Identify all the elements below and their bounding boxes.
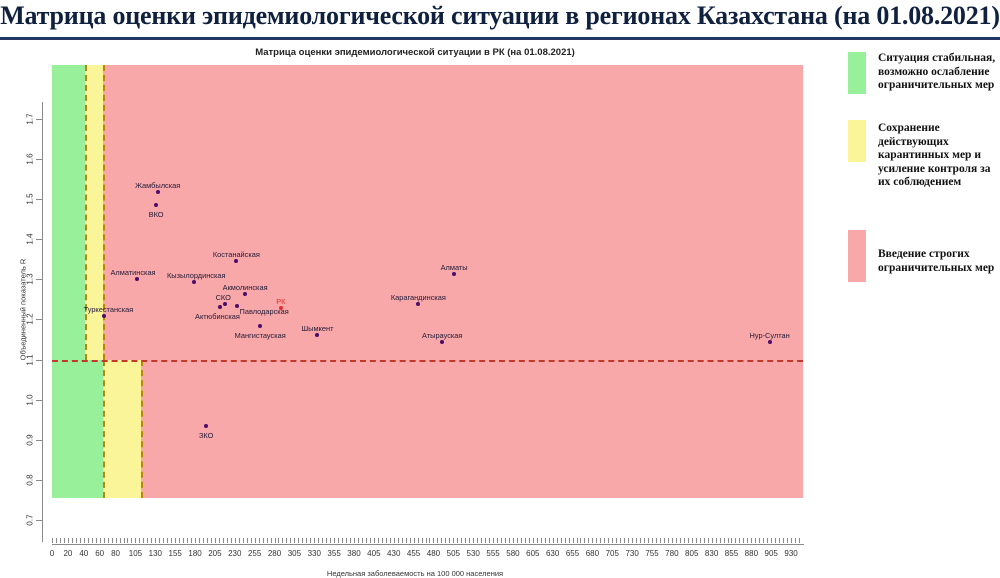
x-tick	[505, 538, 506, 543]
boundary-yellow-red-lower	[141, 360, 143, 498]
x-tick	[787, 538, 788, 543]
y-tick	[36, 199, 42, 200]
y-tick	[36, 400, 42, 401]
x-tick	[445, 538, 446, 543]
x-tick	[521, 538, 522, 543]
x-tick	[588, 538, 589, 543]
data-point	[218, 305, 222, 309]
x-tick	[402, 538, 403, 543]
x-tick	[362, 538, 363, 543]
data-point	[768, 340, 772, 344]
data-point-label: Актюбинская	[195, 312, 240, 321]
x-tick	[124, 538, 125, 543]
data-point-label: РК	[276, 297, 285, 306]
x-tick	[584, 538, 585, 543]
x-tick	[116, 538, 117, 543]
legend-color-swatch	[848, 230, 866, 282]
x-tick	[56, 538, 57, 543]
x-tick	[624, 538, 625, 543]
data-point	[192, 280, 196, 284]
data-point	[243, 292, 247, 296]
x-tick	[155, 538, 156, 543]
x-tick	[573, 538, 574, 543]
x-tick	[688, 538, 689, 543]
x-tick	[493, 538, 494, 543]
data-point	[154, 203, 158, 207]
x-tick	[398, 538, 399, 543]
x-tick	[557, 538, 558, 543]
x-tick	[656, 538, 657, 543]
y-tick-label: 1.5	[26, 189, 35, 209]
x-tick	[759, 538, 760, 543]
y-tick	[36, 480, 42, 481]
x-tick-label: 655	[566, 549, 579, 558]
x-tick	[489, 538, 490, 543]
x-tick	[461, 538, 462, 543]
x-tick	[648, 538, 649, 543]
x-tick-label: 705	[606, 549, 619, 558]
x-tick	[429, 538, 430, 543]
x-tick	[88, 538, 89, 543]
chart-panel: Матрица оценки эпидемиологической ситуац…	[0, 40, 830, 549]
x-tick	[716, 538, 717, 543]
x-tick	[477, 538, 478, 543]
x-tick	[473, 538, 474, 543]
data-point-label: Туркестанская	[84, 305, 134, 314]
chart-title: Матрица оценки эпидемиологической ситуац…	[0, 47, 830, 58]
x-tick-label: 305	[288, 549, 301, 558]
x-tick	[414, 538, 415, 543]
x-tick	[131, 538, 132, 543]
y-tick-label: 1.7	[26, 109, 35, 129]
x-tick	[612, 538, 613, 543]
x-tick	[720, 538, 721, 543]
x-tick	[457, 538, 458, 543]
data-point	[258, 324, 262, 328]
x-tick	[660, 538, 661, 543]
x-tick	[52, 538, 53, 543]
data-point	[102, 314, 106, 318]
x-tick	[68, 538, 69, 543]
x-tick	[481, 538, 482, 543]
x-tick	[127, 538, 128, 543]
x-tick	[191, 538, 192, 543]
y-tick	[36, 319, 42, 320]
x-tick	[259, 538, 260, 543]
x-tick-label: 880	[745, 549, 758, 558]
x-tick-label: 130	[149, 549, 162, 558]
x-tick	[684, 538, 685, 543]
x-tick-label: 0	[50, 549, 54, 558]
x-tick	[743, 538, 744, 543]
y-tick-label: 1.4	[26, 229, 35, 249]
x-tick	[541, 538, 542, 543]
x-tick	[135, 538, 136, 543]
y-tick-label: 1.1	[26, 350, 35, 370]
legend-label: Ситуация стабильная, возможно ослабление…	[878, 52, 1000, 93]
zone-yellow-upper	[85, 65, 102, 360]
data-point-label: ЗКО	[199, 431, 213, 440]
x-tick	[620, 538, 621, 543]
x-tick-label: 530	[467, 549, 480, 558]
x-tick	[600, 538, 601, 543]
y-tick	[36, 360, 42, 361]
data-point	[416, 302, 420, 306]
x-tick	[171, 538, 172, 543]
legend-label: Введение строгих ограничительных мер	[878, 248, 1000, 275]
data-point-label: Нур-Султан	[750, 331, 790, 340]
data-point	[135, 277, 139, 281]
data-point-label: Алматы	[441, 263, 468, 272]
x-tick	[314, 538, 315, 543]
x-tick	[795, 538, 796, 543]
x-tick	[366, 538, 367, 543]
data-point-label: Шымкент	[301, 324, 333, 333]
x-tick	[704, 538, 705, 543]
x-tick	[179, 538, 180, 543]
x-tick	[251, 538, 252, 543]
data-point-label: ВКО	[149, 210, 164, 219]
x-tick	[465, 538, 466, 543]
x-tick	[167, 538, 168, 543]
x-tick	[596, 538, 597, 543]
x-tick	[96, 538, 97, 543]
x-tick	[580, 538, 581, 543]
x-tick	[672, 538, 673, 543]
x-tick	[147, 538, 148, 543]
x-tick	[271, 538, 272, 543]
x-tick	[358, 538, 359, 543]
x-tick-label: 730	[625, 549, 638, 558]
x-tick	[64, 538, 65, 543]
x-tick-label: 180	[188, 549, 201, 558]
x-tick	[668, 538, 669, 543]
x-tick	[644, 538, 645, 543]
y-axis-line	[42, 102, 43, 542]
x-tick	[791, 538, 792, 543]
x-tick	[751, 538, 752, 543]
x-tick	[775, 538, 776, 543]
x-tick	[529, 538, 530, 543]
y-tick	[36, 159, 42, 160]
x-tick	[290, 538, 291, 543]
x-tick	[80, 538, 81, 543]
y-tick-label: 0.8	[26, 470, 35, 490]
x-tick	[779, 538, 780, 543]
data-point	[452, 272, 456, 276]
x-tick-label: 555	[486, 549, 499, 558]
x-tick	[310, 538, 311, 543]
x-tick	[207, 538, 208, 543]
x-tick	[243, 538, 244, 543]
x-tick	[724, 538, 725, 543]
x-tick	[211, 538, 212, 543]
y-tick	[36, 440, 42, 441]
x-tick-label: 155	[168, 549, 181, 558]
x-tick	[426, 538, 427, 543]
x-tick	[318, 538, 319, 543]
legend-label: Сохранение действующих карантинных мер и…	[878, 122, 1000, 190]
x-tick	[215, 538, 216, 543]
data-point	[315, 333, 319, 337]
x-tick	[60, 538, 61, 543]
x-tick	[652, 538, 653, 543]
x-tick	[553, 538, 554, 543]
x-tick	[708, 538, 709, 543]
plot-area: ЖамбылскаяВКОКостанайскаяАлматинскаяКызы…	[52, 65, 803, 498]
x-tick	[338, 538, 339, 543]
x-tick	[235, 538, 236, 543]
x-tick	[247, 538, 248, 543]
x-tick	[286, 538, 287, 543]
x-tick	[92, 538, 93, 543]
y-tick-label: 1.6	[26, 149, 35, 169]
x-tick-label: 330	[308, 549, 321, 558]
x-tick-label: 280	[268, 549, 281, 558]
x-tick	[76, 538, 77, 543]
x-tick	[378, 538, 379, 543]
x-tick-label: 380	[347, 549, 360, 558]
x-tick	[354, 538, 355, 543]
x-tick	[680, 538, 681, 543]
zone-red-lower	[141, 360, 803, 498]
x-tick	[263, 538, 264, 543]
x-tick	[513, 538, 514, 543]
x-tick	[728, 538, 729, 543]
x-tick	[112, 538, 113, 543]
zone-green-upper	[52, 65, 85, 360]
x-tick-label: 230	[228, 549, 241, 558]
x-tick	[628, 538, 629, 543]
data-point-label: Алматинская	[110, 268, 155, 277]
y-tick	[36, 119, 42, 120]
x-tick	[771, 538, 772, 543]
y-tick-label: 1.3	[26, 269, 35, 289]
x-tick	[783, 538, 784, 543]
x-tick	[334, 538, 335, 543]
x-tick	[731, 538, 732, 543]
x-tick	[700, 538, 701, 543]
boundary-green-yellow-lower	[103, 360, 105, 498]
x-tick	[549, 538, 550, 543]
data-point	[156, 190, 160, 194]
x-tick	[183, 538, 184, 543]
x-tick	[577, 538, 578, 543]
x-tick	[294, 538, 295, 543]
x-tick	[175, 538, 176, 543]
x-tick	[282, 538, 283, 543]
x-tick	[386, 538, 387, 543]
x-tick	[346, 538, 347, 543]
x-tick-label: 40	[79, 549, 88, 558]
x-tick	[517, 538, 518, 543]
x-tick	[763, 538, 764, 543]
x-tick	[636, 538, 637, 543]
x-axis-line	[52, 544, 804, 545]
x-tick	[151, 538, 152, 543]
x-tick	[203, 538, 204, 543]
x-tick	[342, 538, 343, 543]
x-tick-label: 780	[665, 549, 678, 558]
x-tick	[592, 538, 593, 543]
y-tick-label: 0.7	[26, 510, 35, 530]
x-tick	[139, 538, 140, 543]
x-tick	[219, 538, 220, 543]
x-tick	[453, 538, 454, 543]
x-tick	[632, 538, 633, 543]
x-tick	[755, 538, 756, 543]
x-tick	[374, 538, 375, 543]
x-tick	[692, 538, 693, 543]
data-point-label: Мангистауская	[235, 331, 286, 340]
x-tick	[255, 538, 256, 543]
data-point-label: Кызылординская	[167, 271, 226, 280]
x-tick	[187, 538, 188, 543]
data-point-label: Атырауская	[422, 331, 462, 340]
x-tick	[239, 538, 240, 543]
x-tick-label: 680	[586, 549, 599, 558]
x-tick	[608, 538, 609, 543]
x-tick	[569, 538, 570, 543]
x-tick-label: 255	[248, 549, 261, 558]
x-tick	[143, 538, 144, 543]
x-tick	[382, 538, 383, 543]
x-tick	[199, 538, 200, 543]
x-tick-label: 480	[427, 549, 440, 558]
page-title: Матрица оценки эпидемиологической ситуац…	[0, 1, 1000, 31]
x-tick	[100, 538, 101, 543]
data-point-label: Жамбылская	[135, 181, 180, 190]
y-tick	[36, 239, 42, 240]
x-tick	[267, 538, 268, 543]
x-tick-label: 405	[367, 549, 380, 558]
zone-green-lower	[52, 360, 103, 498]
x-tick	[565, 538, 566, 543]
x-tick	[497, 538, 498, 543]
legend: Ситуация стабильная, возможно ослабление…	[830, 40, 1000, 549]
legend-color-swatch	[848, 120, 866, 162]
x-tick	[441, 538, 442, 543]
x-tick	[302, 538, 303, 543]
x-tick	[799, 538, 800, 543]
x-tick	[406, 538, 407, 543]
x-tick-label: 755	[645, 549, 658, 558]
x-tick	[390, 538, 391, 543]
x-tick-label: 105	[129, 549, 142, 558]
x-tick	[394, 538, 395, 543]
x-tick	[676, 538, 677, 543]
x-tick	[525, 538, 526, 543]
x-tick	[604, 538, 605, 543]
data-point	[234, 259, 238, 263]
x-tick	[370, 538, 371, 543]
x-tick-label: 930	[784, 549, 797, 558]
x-tick-label: 20	[63, 549, 72, 558]
data-point	[440, 340, 444, 344]
data-point-label: Костанайская	[213, 250, 260, 259]
x-tick-label: 580	[506, 549, 519, 558]
data-point-label: Карагандинская	[391, 293, 446, 302]
x-tick	[501, 538, 502, 543]
x-tick	[485, 538, 486, 543]
x-tick-label: 355	[327, 549, 340, 558]
data-point	[223, 302, 227, 306]
x-tick-label: 430	[387, 549, 400, 558]
x-tick	[223, 538, 224, 543]
x-tick-label: 505	[447, 549, 460, 558]
x-tick	[696, 538, 697, 543]
x-tick	[545, 538, 546, 543]
x-tick	[449, 538, 450, 543]
x-tick-label: 205	[208, 549, 221, 558]
x-tick	[104, 538, 105, 543]
x-tick	[509, 538, 510, 543]
x-tick	[469, 538, 470, 543]
x-tick	[350, 538, 351, 543]
y-tick-label: 1.2	[26, 309, 35, 329]
x-tick	[616, 538, 617, 543]
x-tick	[437, 538, 438, 543]
x-tick	[108, 538, 109, 543]
x-tick-label: 905	[765, 549, 778, 558]
x-tick	[422, 538, 423, 543]
data-point	[279, 306, 283, 310]
x-tick	[227, 538, 228, 543]
x-tick-label: 855	[725, 549, 738, 558]
x-tick	[275, 538, 276, 543]
y-tick	[36, 279, 42, 280]
boundary-green-yellow-upper	[85, 65, 87, 360]
x-tick	[533, 538, 534, 543]
x-tick-label: 455	[407, 549, 420, 558]
x-tick	[84, 538, 85, 543]
x-tick	[231, 538, 232, 543]
threshold-line-r1	[52, 360, 803, 362]
x-tick-label: 805	[685, 549, 698, 558]
data-point	[204, 424, 208, 428]
x-tick	[418, 538, 419, 543]
x-tick	[330, 538, 331, 543]
x-tick	[163, 538, 164, 543]
y-tick	[36, 520, 42, 521]
x-tick	[712, 538, 713, 543]
x-tick-label: 80	[111, 549, 120, 558]
x-tick	[739, 538, 740, 543]
x-tick	[664, 538, 665, 543]
x-tick	[322, 538, 323, 543]
x-tick	[326, 538, 327, 543]
x-tick-label: 60	[95, 549, 104, 558]
x-tick	[159, 538, 160, 543]
x-tick-label: 605	[526, 549, 539, 558]
x-tick	[640, 538, 641, 543]
x-tick	[747, 538, 748, 543]
y-tick-label: 0.9	[26, 430, 35, 450]
zone-yellow-lower	[103, 360, 141, 498]
data-point-label: Акмолинская	[223, 283, 268, 292]
y-tick-label: 1.0	[26, 390, 35, 410]
x-tick	[278, 538, 279, 543]
x-tick	[561, 538, 562, 543]
page-header: Матрица оценки эпидемиологической ситуац…	[0, 0, 1000, 40]
data-point-label: СКО	[216, 293, 231, 302]
x-tick	[195, 538, 196, 543]
x-axis-title: Недельная заболеваемость на 100 000 насе…	[0, 569, 830, 578]
x-tick	[735, 538, 736, 543]
x-tick	[298, 538, 299, 543]
x-tick	[72, 538, 73, 543]
x-tick	[537, 538, 538, 543]
